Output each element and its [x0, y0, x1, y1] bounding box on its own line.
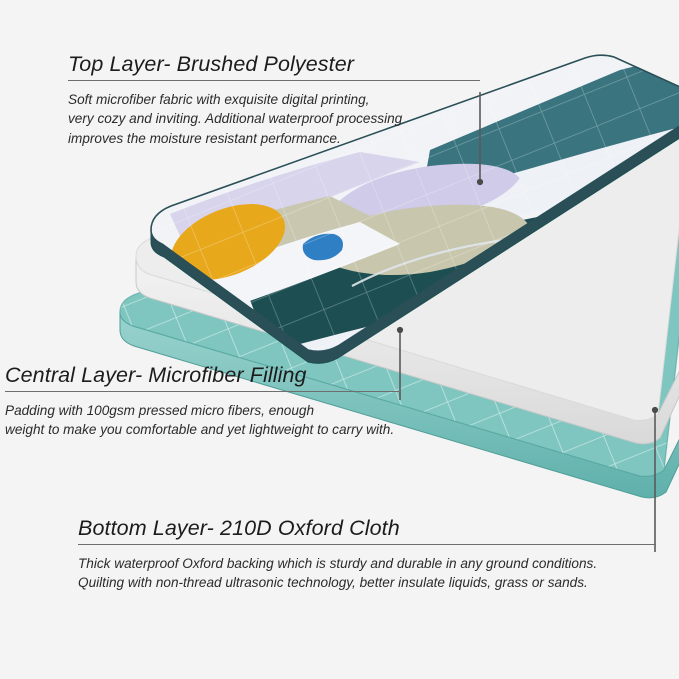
callout-top-layer-rule	[68, 80, 480, 81]
callout-top-layer: Top Layer- Brushed Polyester Soft microf…	[68, 52, 480, 148]
callout-bottom-layer-rule	[78, 544, 656, 545]
callout-top-layer-title: Top Layer- Brushed Polyester	[68, 52, 480, 77]
callout-bottom-layer: Bottom Layer- 210D Oxford Cloth Thick wa…	[78, 516, 656, 593]
callout-top-layer-body: Soft microfiber fabric with exquisite di…	[68, 90, 480, 148]
callout-central-layer-title: Central Layer- Microfiber Filling	[5, 363, 401, 388]
callout-central-layer-rule	[5, 391, 401, 392]
infographic-canvas: Top Layer- Brushed Polyester Soft microf…	[0, 0, 679, 679]
callout-central-layer-body: Padding with 100gsm pressed micro fibers…	[5, 401, 401, 440]
callout-central-layer: Central Layer- Microfiber Filling Paddin…	[5, 363, 401, 440]
product-layer-bottom	[80, 140, 679, 521]
callout-bottom-layer-title: Bottom Layer- 210D Oxford Cloth	[78, 516, 656, 541]
callout-bottom-layer-body: Thick waterproof Oxford backing which is…	[78, 554, 656, 593]
